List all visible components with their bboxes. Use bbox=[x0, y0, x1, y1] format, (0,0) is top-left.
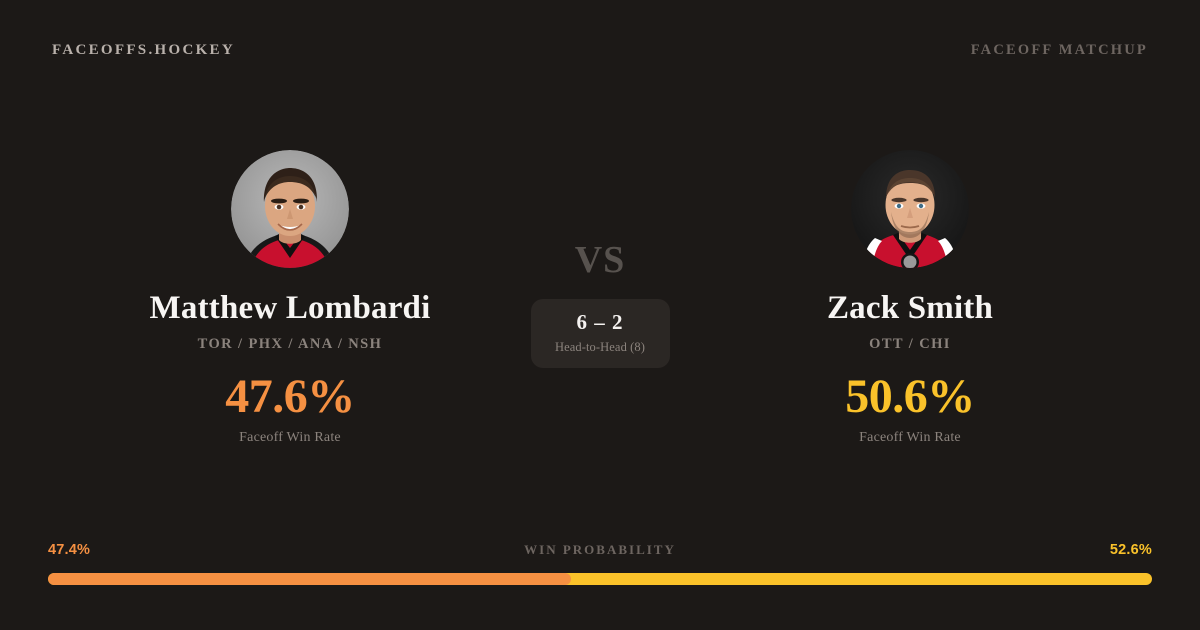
player-headshot-left bbox=[231, 150, 349, 268]
matchup-section: Matthew Lombardi TOR / PHX / ANA / NSH 4… bbox=[0, 150, 1200, 480]
player-teams-right: OTT / CHI bbox=[869, 336, 951, 353]
player-card-left[interactable]: Matthew Lombardi TOR / PHX / ANA / NSH 4… bbox=[80, 150, 500, 446]
player-faceoff-pct-left: 47.6% bbox=[225, 373, 355, 421]
vs-label: VS bbox=[575, 238, 626, 282]
win-probability-labels: 47.4% WIN PROBABILITY 52.6% bbox=[48, 542, 1152, 558]
head-to-head-score: 6 – 2 bbox=[577, 310, 624, 335]
player-teams-left: TOR / PHX / ANA / NSH bbox=[198, 336, 383, 353]
versus-block: VS 6 – 2 Head-to-Head (8) bbox=[500, 150, 700, 368]
player-pct-label-left: Faceoff Win Rate bbox=[239, 430, 341, 446]
site-brand[interactable]: FACEOFFS.HOCKEY bbox=[52, 42, 235, 59]
page-header: FACEOFFS.HOCKEY FACEOFF MATCHUP bbox=[0, 0, 1200, 100]
head-to-head-card[interactable]: 6 – 2 Head-to-Head (8) bbox=[531, 299, 670, 368]
win-probability-left-fill bbox=[48, 573, 571, 585]
page-kicker: FACEOFF MATCHUP bbox=[971, 42, 1148, 59]
player-name-left: Matthew Lombardi bbox=[150, 290, 431, 326]
win-probability-bar[interactable] bbox=[48, 573, 1152, 585]
player-card-right[interactable]: Zack Smith OTT / CHI 50.6% Faceoff Win R… bbox=[700, 150, 1120, 446]
player-faceoff-pct-right: 50.6% bbox=[845, 373, 975, 421]
win-probability-title: WIN PROBABILITY bbox=[48, 542, 1152, 558]
win-probability-section: 47.4% WIN PROBABILITY 52.6% bbox=[48, 542, 1152, 585]
head-to-head-label: Head-to-Head (8) bbox=[555, 340, 645, 355]
player-pct-label-right: Faceoff Win Rate bbox=[859, 430, 961, 446]
player-headshot-right bbox=[851, 150, 969, 268]
player-name-right: Zack Smith bbox=[827, 290, 993, 326]
faceoff-matchup-page: FACEOFFS.HOCKEY FACEOFF MATCHUP bbox=[0, 0, 1200, 630]
